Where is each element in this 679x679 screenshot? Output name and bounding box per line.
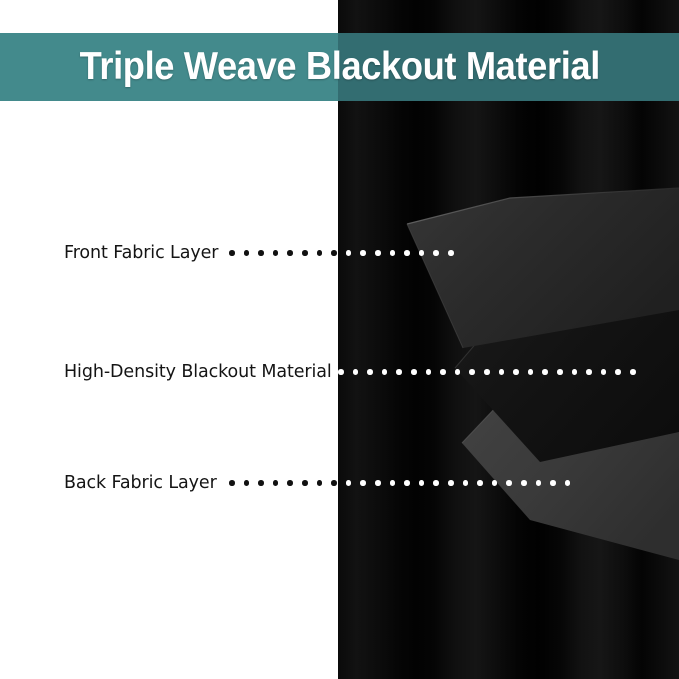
leader-dot [455, 369, 461, 375]
leader-dot [360, 480, 366, 486]
leader-dot [557, 369, 563, 375]
leader-dot [433, 480, 439, 486]
leader-dot [426, 369, 432, 375]
leader-dot [317, 250, 323, 256]
leader-dot [258, 480, 264, 486]
callout-row: Back Fabric Layer [0, 469, 679, 497]
leader-dot [375, 250, 381, 256]
leader-dot [390, 480, 396, 486]
leader-dot-trail [0, 358, 679, 386]
leader-dot [302, 480, 308, 486]
leader-dot [244, 250, 250, 256]
leader-dot [586, 369, 592, 375]
leader-dot-trail [0, 239, 679, 267]
leader-dot [419, 480, 425, 486]
page-title: Triple Weave Blackout Material [79, 45, 599, 89]
leader-dot [550, 480, 556, 486]
leader-dot [273, 480, 279, 486]
leader-dot [469, 369, 475, 375]
leader-dot [448, 250, 454, 256]
header-banner: Triple Weave Blackout Material [0, 33, 679, 101]
leader-dot [360, 250, 366, 256]
leader-dot [258, 250, 264, 256]
leader-dot [492, 480, 498, 486]
leader-dot [513, 369, 519, 375]
leader-dot [331, 250, 337, 256]
leader-dot [419, 250, 425, 256]
leader-dot [287, 250, 293, 256]
leader-dot [506, 480, 512, 486]
leader-dot [433, 250, 439, 256]
leader-dot [367, 369, 373, 375]
leader-dot [536, 480, 542, 486]
leader-dot [375, 480, 381, 486]
leader-dot [244, 480, 250, 486]
leader-dot-trail [0, 469, 679, 497]
curtain-background [338, 0, 679, 679]
leader-dot [338, 369, 344, 375]
leader-dot [601, 369, 607, 375]
leader-dot [542, 369, 548, 375]
leader-dot [484, 369, 490, 375]
leader-dot [463, 480, 469, 486]
leader-dot [615, 369, 621, 375]
leader-dot [499, 369, 505, 375]
leader-dot [317, 480, 323, 486]
leader-dot [411, 369, 417, 375]
leader-dot [477, 480, 483, 486]
leader-dot [404, 250, 410, 256]
callout-row: High-Density Blackout Material [0, 358, 679, 386]
leader-dot [572, 369, 578, 375]
leader-dot [396, 369, 402, 375]
leader-dot [331, 480, 337, 486]
leader-dot [229, 250, 235, 256]
leader-dot [440, 369, 446, 375]
callout-row: Front Fabric Layer [0, 239, 679, 267]
leader-dot [565, 480, 571, 486]
leader-dot [229, 480, 235, 486]
leader-dot [404, 480, 410, 486]
leader-dot [287, 480, 293, 486]
leader-dot [302, 250, 308, 256]
leader-dot [353, 369, 359, 375]
leader-dot [346, 250, 352, 256]
leader-dot [390, 250, 396, 256]
leader-dot [528, 369, 534, 375]
leader-dot [521, 480, 527, 486]
product-infographic: Triple Weave Blackout Material Front Fab… [0, 0, 679, 679]
leader-dot [346, 480, 352, 486]
leader-dot [273, 250, 279, 256]
leader-dot [448, 480, 454, 486]
leader-dot [630, 369, 636, 375]
leader-dot [382, 369, 388, 375]
